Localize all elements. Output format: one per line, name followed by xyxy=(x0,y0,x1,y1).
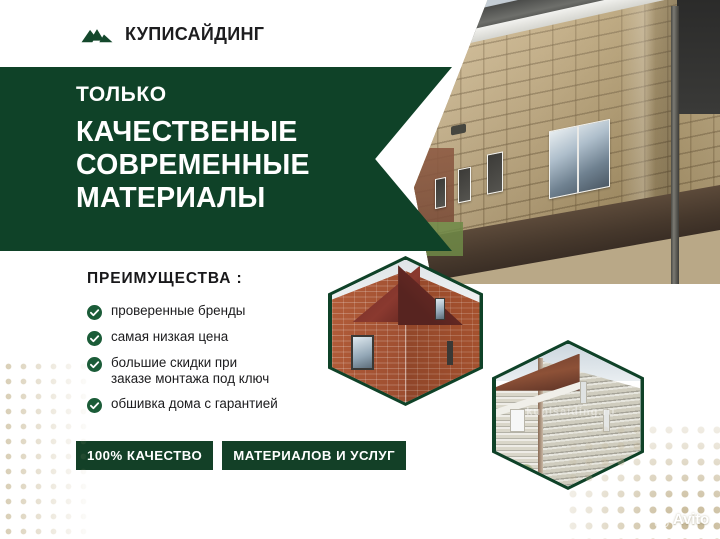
photo-window-small-2 xyxy=(458,166,471,203)
avito-watermark-text: Avito xyxy=(673,511,709,528)
photo-gable xyxy=(677,0,720,114)
check-circle-icon xyxy=(87,305,102,320)
headline-line-1: КАЧЕСТВЕНЫЕ xyxy=(76,116,406,149)
photo-window-large xyxy=(549,119,610,200)
advantage-line-1: обшивка дома с гарантией xyxy=(111,396,278,411)
siding-photo-wall-left xyxy=(496,378,541,487)
brand-logo[interactable]: КУПИСАЙДИНГ xyxy=(80,24,264,45)
advantage-text: самая низкая цена xyxy=(111,329,228,345)
headline-line-2: СОВРЕМЕННЫЕ xyxy=(76,149,406,182)
advantage-line-1: самая низкая цена xyxy=(111,329,228,344)
advantage-line-2: заказе монтажа под ключ xyxy=(111,371,269,387)
siding-photo-window-3 xyxy=(603,409,610,432)
hex-photo-siding-house-inner: kupisaiding.ru xyxy=(496,344,641,487)
advantage-line-1: проверенные бренды xyxy=(111,303,245,318)
photo-window-small-1 xyxy=(487,152,503,195)
bar-materials-services: МАТЕРИАЛОВ И УСЛУГ xyxy=(222,441,406,470)
brick-photo-window-1 xyxy=(351,335,375,369)
bar-quality: 100% КАЧЕСТВО xyxy=(76,441,213,470)
advantage-line-1: большие скидки при xyxy=(111,355,237,370)
siding-photo-window-2 xyxy=(580,381,587,404)
photo-downpipe xyxy=(671,6,678,284)
advantage-text: проверенные бренды xyxy=(111,303,245,319)
siding-photo-bush xyxy=(511,464,537,487)
avito-watermark: Avito xyxy=(654,511,709,528)
headline-kicker: ТОЛЬКО xyxy=(76,84,406,105)
advantage-text: большие скидки при заказе монтажа под кл… xyxy=(111,355,269,387)
hex-photo-siding-house: kupisaiding.ru xyxy=(492,340,644,490)
check-circle-icon xyxy=(87,398,102,413)
headline-block: ТОЛЬКО КАЧЕСТВЕНЫЕ СОВРЕМЕННЫЕ МАТЕРИАЛЫ xyxy=(76,84,406,215)
photo-window-small-3 xyxy=(435,176,446,208)
quality-bars: 100% КАЧЕСТВО МАТЕРИАЛОВ И УСЛУГ xyxy=(76,441,406,470)
advantages-title: ПРЕИМУЩЕСТВА : xyxy=(87,270,387,288)
check-circle-icon xyxy=(87,331,102,346)
check-circle-icon xyxy=(87,357,102,372)
mountain-peaks-icon xyxy=(80,24,114,45)
brick-photo-window-2 xyxy=(435,298,445,319)
advantage-text: обшивка дома с гарантией xyxy=(111,396,278,412)
avito-logo-icon xyxy=(654,512,670,528)
advertisement-poster: КУПИСАЙДИНГ ТОЛЬКО КАЧЕСТВЕНЫЕ СОВРЕМЕНН… xyxy=(0,0,720,539)
list-item: обшивка дома с гарантией xyxy=(87,396,387,413)
brand-name: КУПИСАЙДИНГ xyxy=(125,24,264,45)
brick-photo-window-3 xyxy=(447,341,453,365)
headline-line-3: МАТЕРИАЛЫ xyxy=(76,182,406,215)
hero-photo-stone-siding-house xyxy=(414,0,720,284)
siding-photo-window-1 xyxy=(510,409,525,432)
photo-neighbour-house xyxy=(414,148,454,222)
